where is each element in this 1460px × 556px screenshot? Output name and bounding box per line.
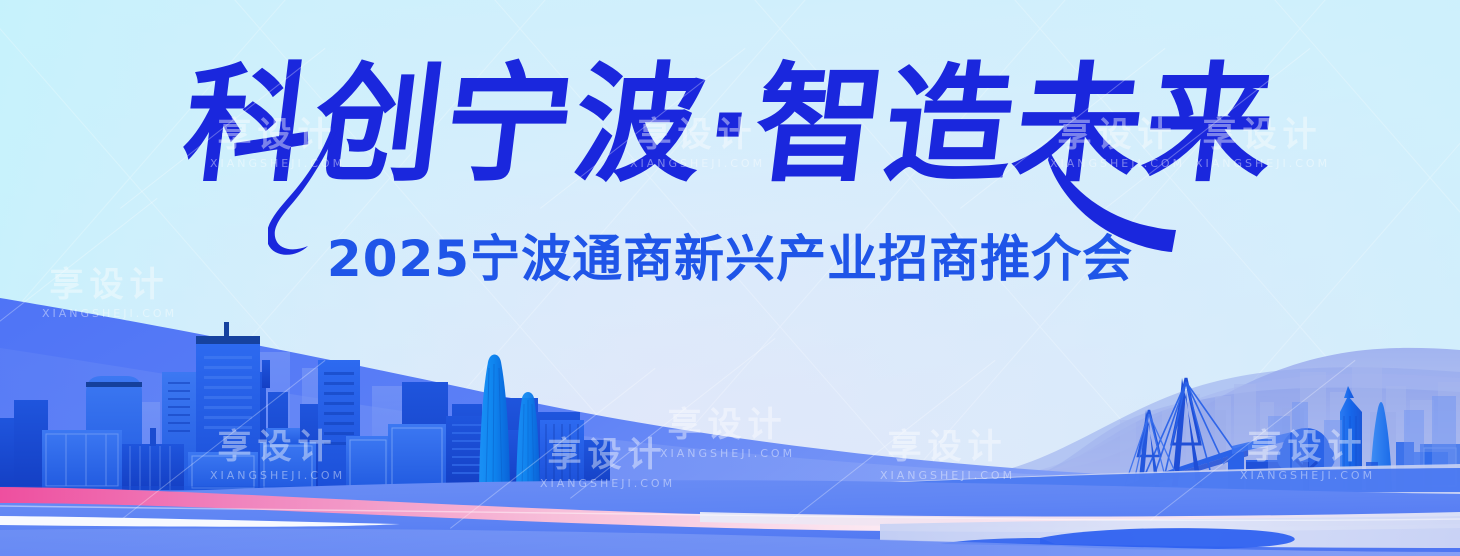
sea-waves <box>0 0 1460 556</box>
promo-banner: 科创宁波·智造未来 2025宁波通商新兴产业招商推介会 享设计XIANGSHEJ… <box>0 0 1460 556</box>
